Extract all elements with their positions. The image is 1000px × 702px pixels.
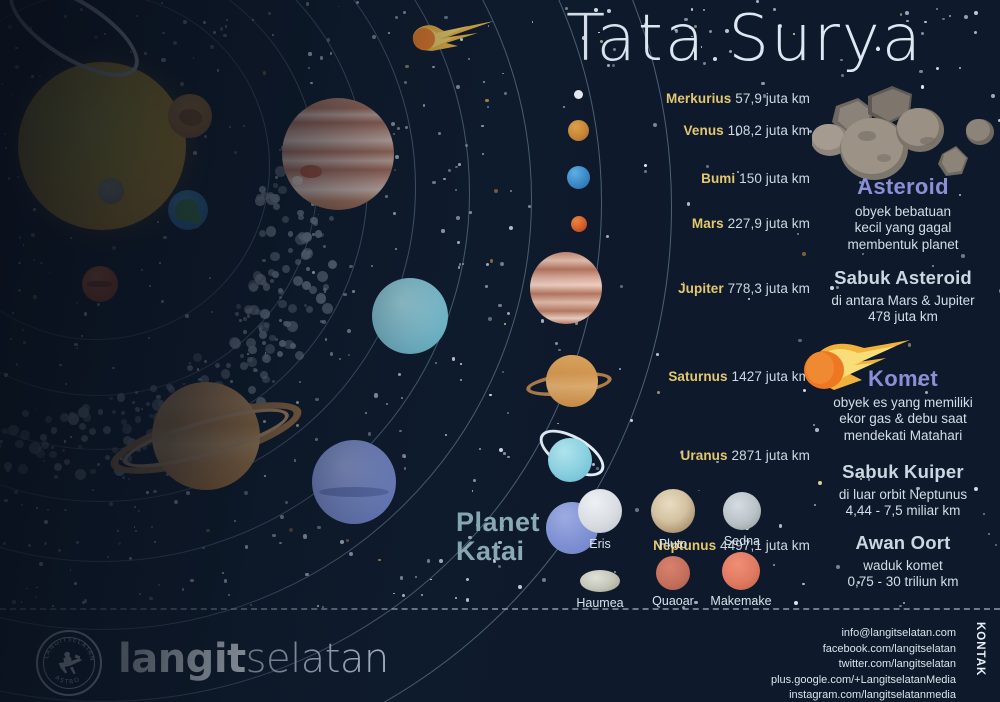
jupiter-great-red-spot [300, 165, 322, 177]
planet-label-uranus: Uranus 2871 juta km [681, 448, 810, 463]
comet-illustration-icon [408, 20, 494, 58]
star-dot [802, 583, 804, 585]
mars-illustration [82, 266, 118, 302]
saturnus-marker-icon [546, 355, 598, 407]
jupiter-white-oval [292, 176, 303, 185]
planet-label-merkurius: Merkurius 57,9 juta km [666, 91, 810, 106]
star-dot [794, 601, 798, 605]
comet-block: Komet obyek es yang memiliki ekor gas & … [806, 366, 1000, 444]
neptune-illustration [312, 440, 396, 524]
eris-icon [578, 489, 622, 533]
asteroid-desc-2: kecil yang gagal [806, 220, 1000, 236]
brand-light: selatan [246, 636, 389, 682]
asteroid-heading: Asteroid [806, 174, 1000, 200]
jupiter-marker-icon [530, 252, 602, 324]
kuiper-belt-block: Sabuk Kuiper di luar orbit Neptunus 4,44… [806, 461, 1000, 520]
mars-marker-icon [571, 216, 587, 232]
star-dot [942, 18, 945, 21]
contact-email[interactable]: info@langitselatan.com [771, 626, 956, 642]
quaoar-label: Quaoar [637, 594, 709, 608]
oort-cloud-heading: Awan Oort [806, 532, 1000, 554]
dwarf-planet-section-title: Planet Katai [456, 508, 540, 565]
contact-instagram[interactable]: instagram.com/langitselatanmedia [771, 688, 956, 702]
planet-label-venus: Venus 108,2 juta km [684, 123, 811, 138]
svg-text:ASTRO: ASTRO [54, 674, 82, 686]
mercury-illustration [98, 178, 124, 204]
star-dot [936, 67, 939, 70]
planet-row-bumi: Bumi 150 juta km [530, 156, 810, 202]
oort-cloud-block: Awan Oort waduk komet 0,75 - 30 triliun … [806, 532, 1000, 591]
dwarf-planet-quaoar: Quaoar [637, 556, 709, 608]
kuiper-belt-desc-2: 4,44 - 7,5 miliar km [806, 503, 1000, 519]
haumea-icon [580, 570, 620, 592]
star-dot [974, 11, 978, 15]
bumi-marker-icon [567, 166, 590, 189]
dwarf-planet-haumea: Haumea [564, 561, 636, 610]
asteroid-desc-3: membentuk planet [806, 237, 1000, 253]
infographic-poster: Tata Surya Merkurius 57,9 juta km Venus … [0, 0, 1000, 702]
quaoar-icon [656, 556, 690, 590]
contact-twitter[interactable]: twitter.com/langitselatan [771, 657, 956, 673]
comet-desc-2: ekor gas & debu saat [806, 411, 1000, 427]
planet-row-venus: Venus 108,2 juta km [530, 114, 810, 156]
dwarf-planet-sedna: Sedna [706, 492, 778, 548]
earth-illustration [168, 190, 208, 230]
planet-label-mars: Mars 227,9 juta km [692, 216, 810, 231]
comet-heading: Komet [806, 366, 1000, 392]
dwarf-planet-makemake: Makemake [705, 552, 777, 608]
contact-facebook[interactable]: facebook.com/langitselatan [771, 642, 956, 658]
merkurius-marker-icon [574, 90, 583, 99]
uranus-illustration [372, 278, 448, 354]
venus-marker-icon [568, 120, 589, 141]
sedna-icon [723, 492, 761, 530]
venus-illustration [168, 94, 212, 138]
pluto-icon [651, 489, 695, 533]
eris-label: Eris [564, 537, 636, 551]
footer: LANGITSELATAN ASTRO langitselatan info [0, 608, 1000, 702]
star-dot [959, 67, 961, 69]
asteroid-belt-desc-2: 478 juta km [806, 309, 1000, 325]
makemake-label: Makemake [705, 594, 777, 608]
star-dot [924, 21, 927, 24]
planet-label-bumi: Bumi 150 juta km [701, 171, 810, 186]
star-dot [964, 15, 968, 19]
logo-sagittarius-glyph: LANGITSELATAN ASTRO [38, 632, 100, 694]
star-dot [974, 31, 977, 34]
kontak-vertical-label: KONTAK [973, 622, 986, 676]
jupiter-illustration [282, 98, 394, 210]
sun-illustration [18, 62, 186, 230]
star-dot [961, 254, 965, 258]
planet-row-mars: Mars 227,9 juta km [530, 202, 810, 246]
planet-label-saturnus: Saturnus 1427 juta km [668, 369, 810, 384]
asteroid-desc-1: obyek bebatuan [806, 204, 1000, 220]
star-dot [903, 602, 906, 605]
contact-list: info@langitselatan.com facebook.com/lang… [771, 626, 956, 702]
comet-desc-3: mendekati Matahari [806, 428, 1000, 444]
contact-googleplus[interactable]: plus.google.com/+LangitselatanMedia [771, 673, 956, 689]
langitselatan-logo-icon: LANGITSELATAN ASTRO [36, 630, 102, 696]
asteroid-belt-heading: Sabuk Asteroid [806, 267, 1000, 289]
star-dot [949, 15, 951, 17]
katai-line-2: Katai [456, 537, 540, 566]
brand-wordmark: langitselatan [118, 636, 389, 682]
star-dot [899, 605, 901, 607]
planet-label-jupiter: Jupiter 778,3 juta km [678, 281, 810, 296]
star-dot [542, 578, 546, 582]
star-dot [936, 8, 938, 10]
kuiper-belt-heading: Sabuk Kuiper [806, 461, 1000, 483]
asteroid-belt-desc-1: di antara Mars & Jupiter [806, 293, 1000, 309]
footer-divider [0, 608, 1000, 610]
planet-row-merkurius: Merkurius 57,9 juta km [530, 78, 810, 114]
asteroid-block: Asteroid obyek bebatuan kecil yang gagal… [806, 174, 1000, 253]
asteroid-belt-block: Sabuk Asteroid di antara Mars & Jupiter … [806, 267, 1000, 326]
sedna-label: Sedna [706, 534, 778, 548]
planet-row-jupiter: Jupiter 778,3 juta km [530, 246, 810, 346]
dwarf-planet-pluto: Pluto [637, 489, 709, 551]
planet-row-saturnus: Saturnus 1427 juta km [530, 346, 810, 424]
brand-bold: langit [118, 636, 246, 682]
makemake-icon [722, 552, 760, 590]
kuiper-belt-desc-1: di luar orbit Neptunus [806, 487, 1000, 503]
page-title: Tata Surya [566, 2, 923, 76]
uranus-marker-icon [548, 438, 592, 482]
pluto-label: Pluto [637, 537, 709, 551]
oort-cloud-desc-2: 0,75 - 30 triliun km [806, 574, 1000, 590]
katai-line-1: Planet [456, 508, 540, 537]
oort-cloud-desc-1: waduk komet [806, 558, 1000, 574]
comet-desc-1: obyek es yang memiliki [806, 395, 1000, 411]
dwarf-planet-eris: Eris [564, 489, 636, 551]
